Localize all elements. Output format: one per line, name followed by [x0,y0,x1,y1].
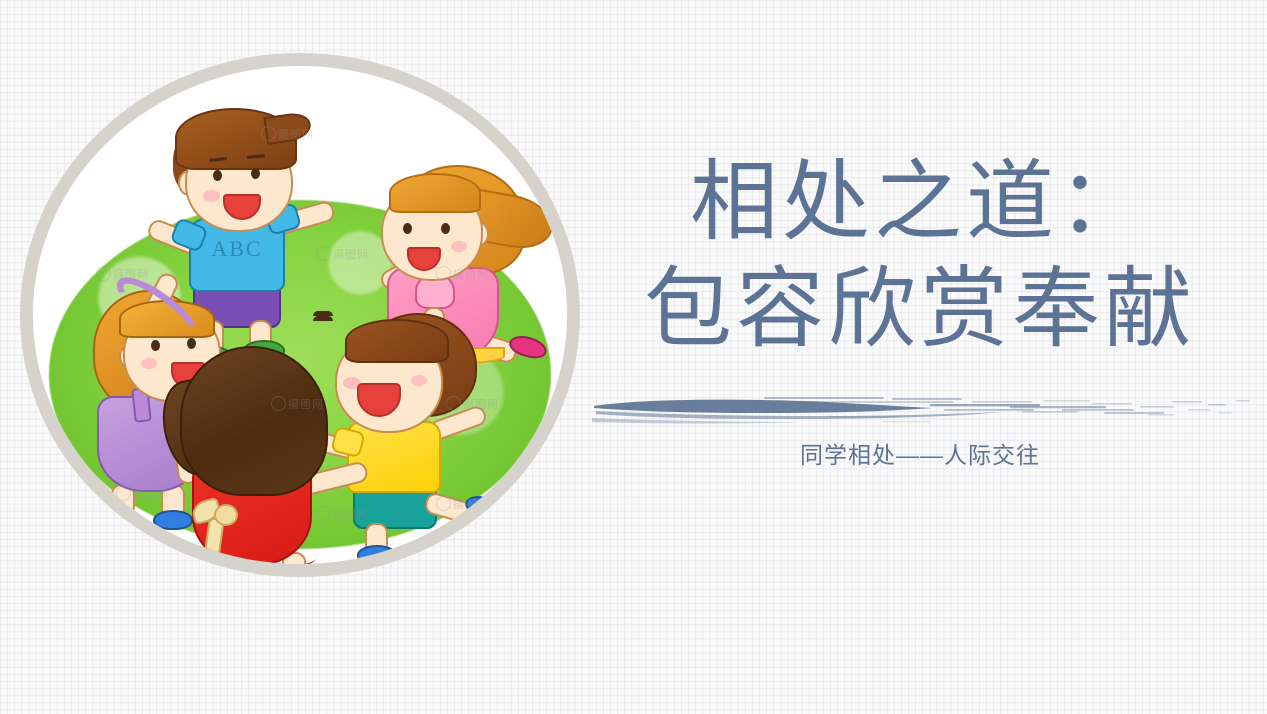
hair-long-back [180,346,328,496]
watermark-ring-icon [271,396,286,411]
subtitle: 同学相处——人际交往 [600,436,1240,470]
cheek-left [203,190,220,202]
shirt-logo-text: ABC [195,236,279,262]
watermark-ring-icon [436,266,451,281]
watermark-ring-icon [261,126,276,141]
bow-knot [214,504,238,526]
title-line-1: 相处之道： [600,150,1240,257]
presentation-slide: ABC [0,0,1267,714]
title-line-2: 包容欣赏奉献 [600,257,1240,364]
title-block: 相处之道： 包容欣赏奉献 [600,150,1240,365]
cheek-right [451,241,467,252]
brush-stroke-icon [592,392,1252,428]
watermark-ring-icon [446,396,461,411]
shoe-left [97,506,137,526]
watermark-ring-icon [436,496,451,511]
eye-right [251,168,260,179]
illustration-circle: ABC [20,53,580,577]
watermark-ring-icon [96,266,111,281]
eye-left [213,170,222,181]
cheek-right [411,375,427,386]
eye-right-closed [313,316,333,321]
cheek-left [141,358,157,369]
hair-bangs [389,173,481,213]
brush-stroke-divider [592,392,1252,428]
watermark-ring-icon [316,246,331,261]
eye-right [441,223,450,234]
child-girl-red-dress [158,346,373,564]
watermark-ring-icon [316,506,331,521]
eye-left [403,223,412,234]
watermark-ring-icon [116,486,131,501]
illustration-canvas: ABC [33,66,567,564]
